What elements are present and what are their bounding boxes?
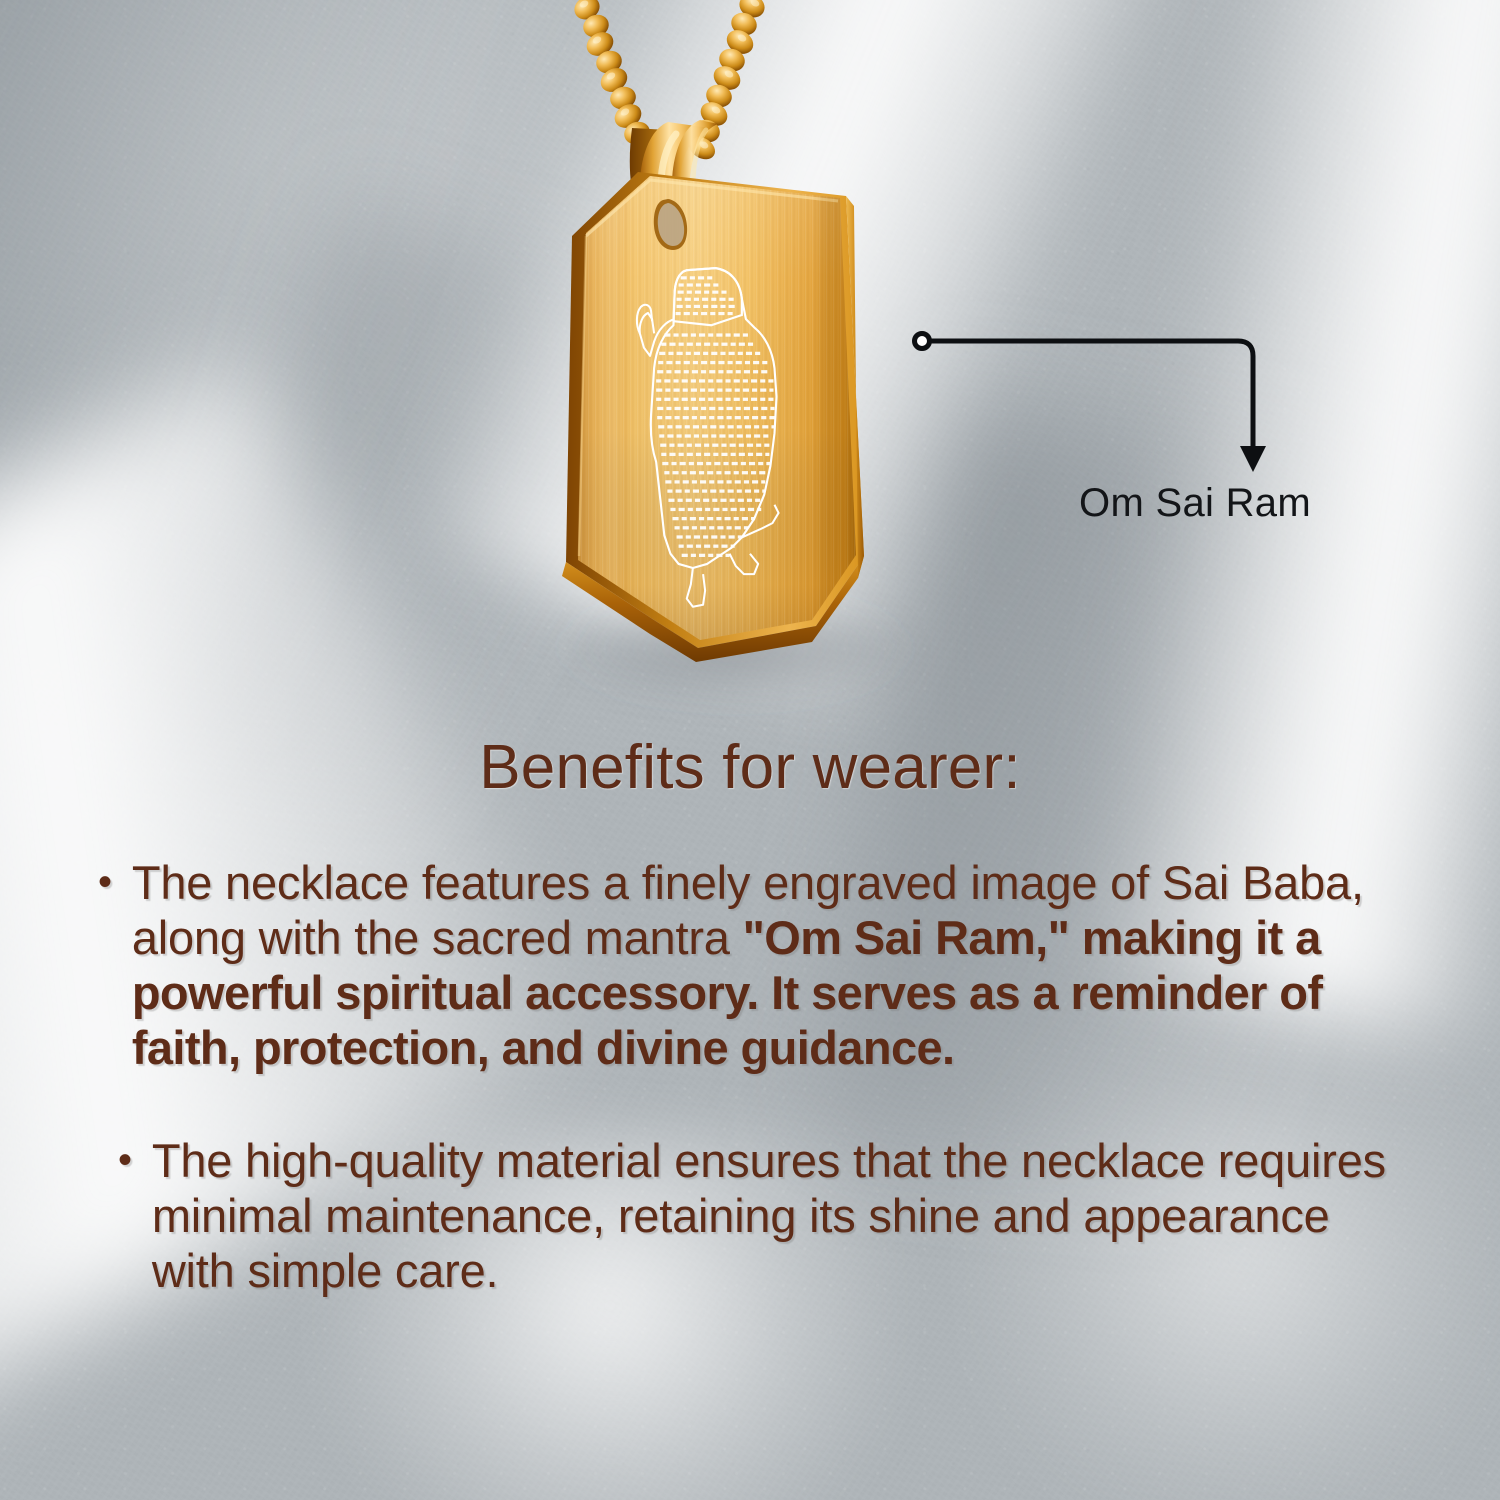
list-item: • The necklace features a finely engrave… [0, 856, 1500, 1076]
bullet-marker: • [118, 1134, 132, 1187]
pendant-tag [560, 160, 864, 662]
callout-leader-line [930, 341, 1253, 450]
arrow-down-icon [1240, 446, 1266, 472]
callout-annotation [890, 310, 1310, 500]
infographic-canvas: Om Sai Ram Benefits for wearer: • The ne… [0, 0, 1500, 1500]
list-item: • The high-quality material ensures that… [0, 1134, 1500, 1299]
list-item-text: The necklace features a finely engraved … [132, 856, 1428, 1076]
page-title: Benefits for wearer: [0, 735, 1500, 800]
bullet-marker: • [98, 856, 112, 909]
benefits-list: • The necklace features a finely engrave… [0, 856, 1500, 1299]
callout-label: Om Sai Ram [1000, 481, 1390, 526]
list-item-text: The high-quality material ensures that t… [152, 1134, 1400, 1299]
callout-dot-icon [915, 334, 930, 349]
benefits-section: Benefits for wearer: • The necklace feat… [0, 735, 1500, 1299]
